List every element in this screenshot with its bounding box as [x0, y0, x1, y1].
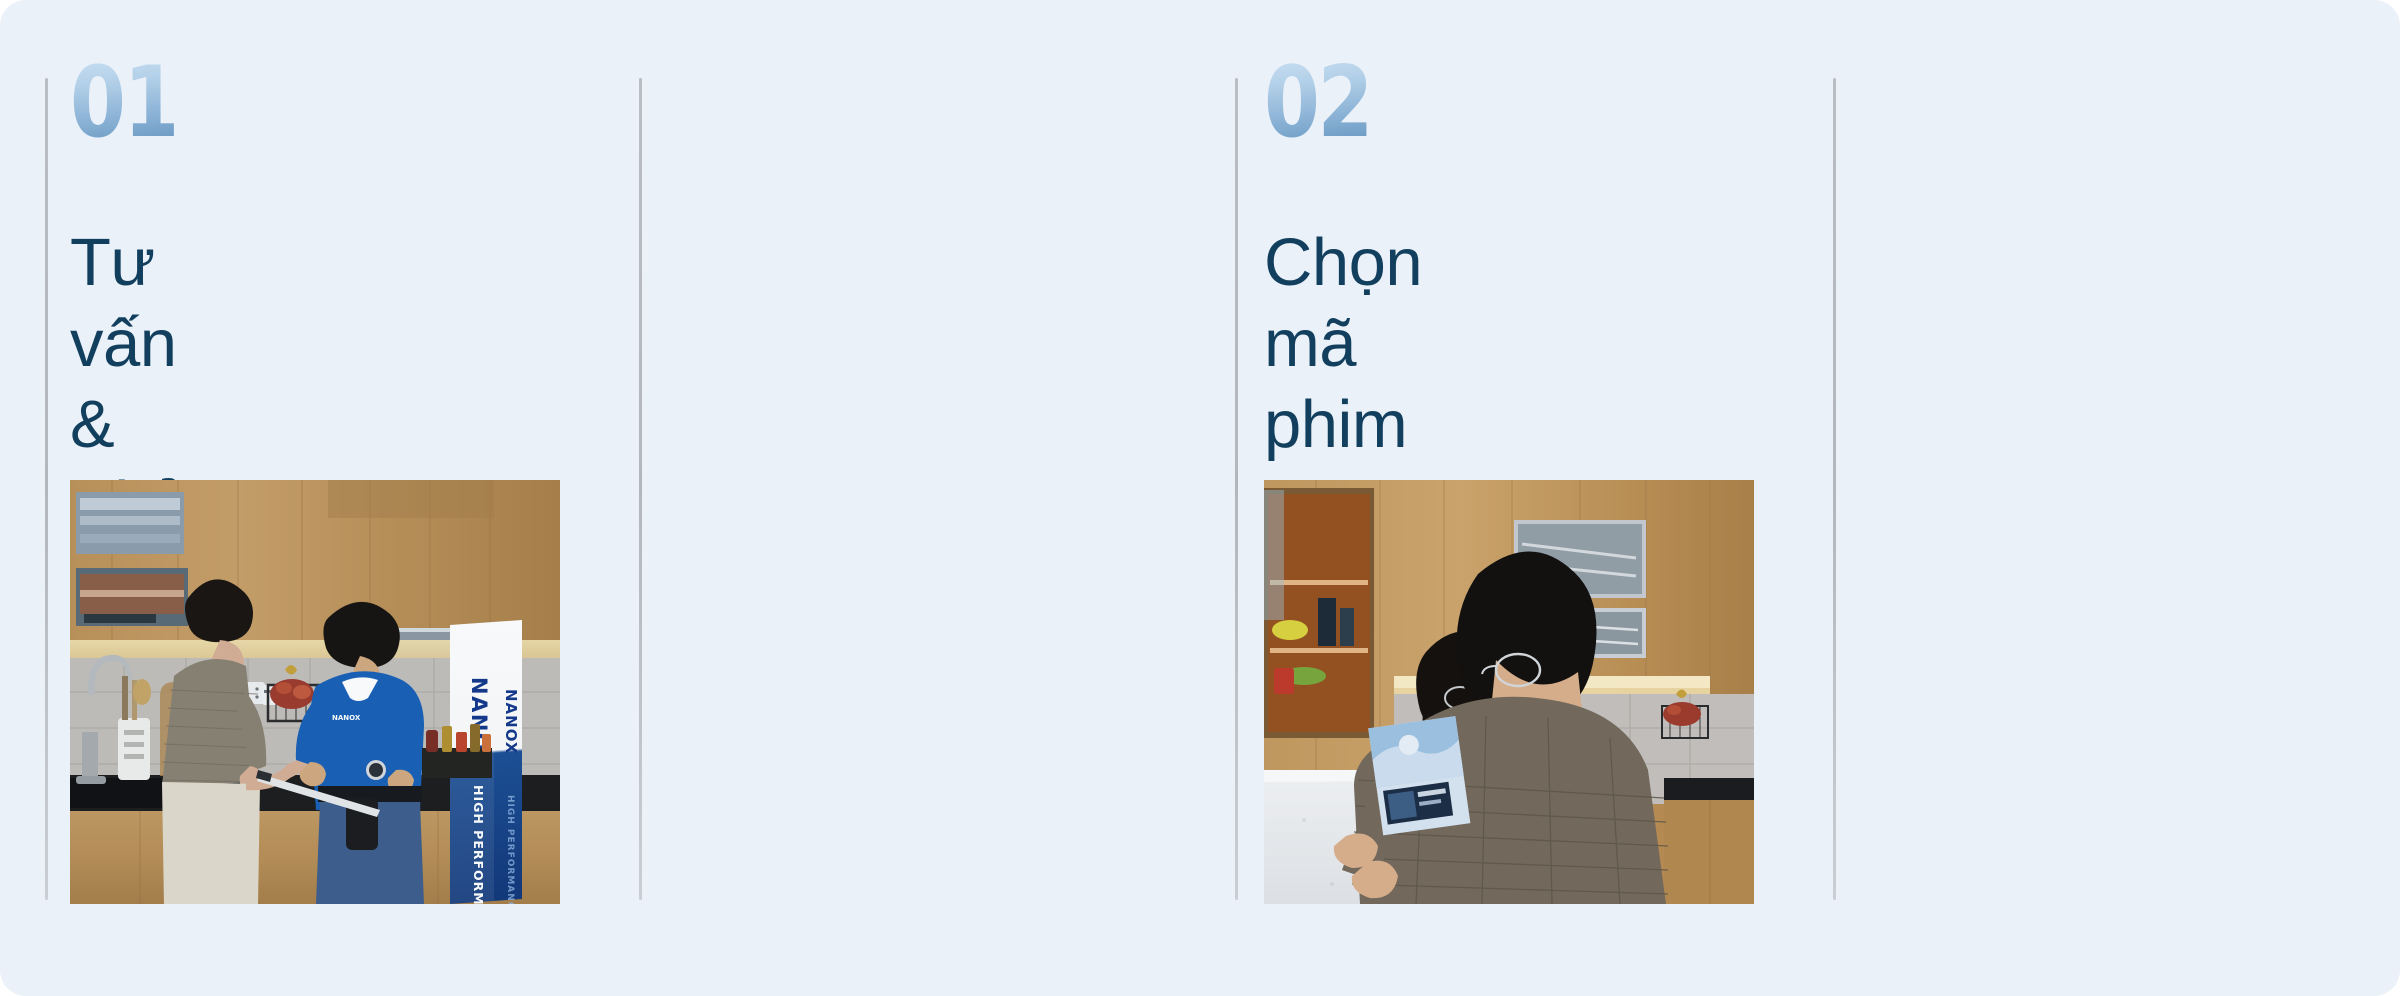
step-divider — [639, 78, 642, 900]
step-number: 01 — [70, 54, 177, 152]
step-photo: NANOX NANOX HIGH PERFORMANCE WINDOW FILM… — [70, 480, 560, 904]
process-steps-panel: 01 Tư vấn & Khảo sát — [0, 0, 2400, 996]
step-divider — [1235, 78, 1238, 900]
step-divider — [45, 78, 48, 900]
process-step-3: 03 Thi công dán PPF — [1196, 0, 1794, 996]
process-steps-row: 01 Tư vấn & Khảo sát — [0, 0, 2400, 996]
consultation-photo: NANOX NANOX HIGH PERFORMANCE WINDOW FILM… — [70, 480, 560, 904]
process-step-2: 02 Chọn mã phim — [598, 0, 1196, 996]
process-step-1: 01 Tư vấn & Khảo sát — [0, 0, 598, 996]
step-divider — [1833, 78, 1836, 900]
process-step-4: 04 Nghiệm thu — [1794, 0, 2392, 996]
